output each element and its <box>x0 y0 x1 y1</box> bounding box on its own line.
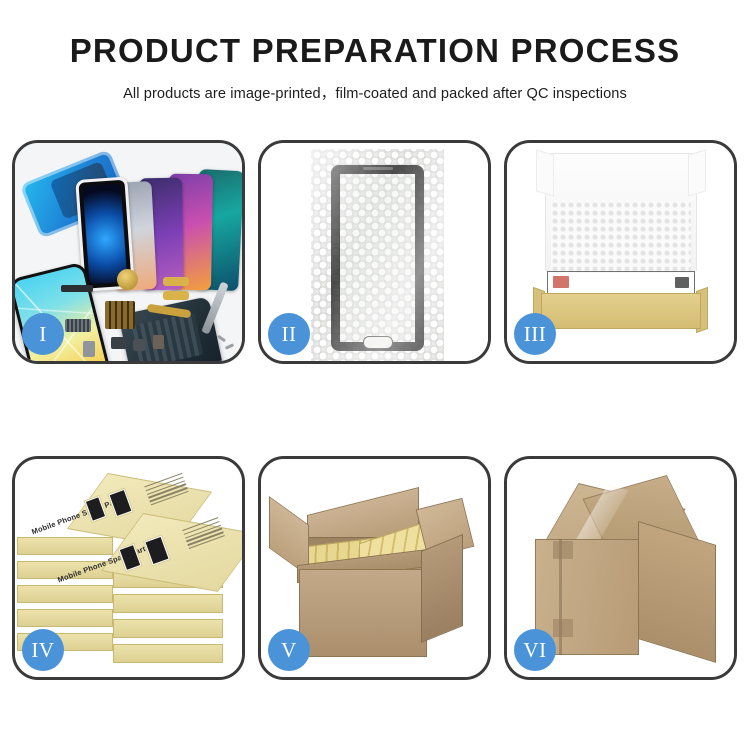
sealed-carton-right-face <box>638 521 716 663</box>
stacked-box-edge <box>113 644 223 663</box>
small-part-icon-4 <box>83 341 95 357</box>
process-step-panel-2[interactable]: II <box>258 140 491 364</box>
page-subtitle: All products are image-printed，film-coat… <box>0 82 750 103</box>
process-step-panel-3[interactable]: III <box>504 140 737 364</box>
process-step-panel-1[interactable]: I <box>12 140 245 364</box>
flex-cable-icon-1 <box>163 277 189 286</box>
ribbon-cable-icon <box>147 304 192 319</box>
stacked-box-edge <box>113 594 223 613</box>
flex-cable-icon-2 <box>163 291 189 300</box>
small-part-icon-2 <box>133 339 146 351</box>
stacked-box-edge <box>17 537 113 555</box>
step-badge-5: V <box>268 629 310 671</box>
process-step-panel-5[interactable]: V <box>258 456 491 680</box>
spare-parts-group <box>67 275 242 361</box>
bubble-wrap-sheet <box>311 149 444 361</box>
foam-insert-icon <box>551 201 691 273</box>
carton-front-face <box>299 569 427 657</box>
product-preparation-page: PRODUCT PREPARATION PROCESS All products… <box>0 0 750 750</box>
carton-tab-lower <box>553 619 573 637</box>
step-badge-6: VI <box>514 629 556 671</box>
small-part-icon-1 <box>111 337 127 349</box>
step-badge-3: III <box>514 313 556 355</box>
process-step-panel-4[interactable]: Mobile Phone Spare Parts Mobile Phone Sp… <box>12 456 245 680</box>
process-step-panel-6[interactable]: VI <box>504 456 737 680</box>
stacked-box-edge <box>17 585 113 603</box>
screw-icon-1 <box>217 335 226 343</box>
step-badge-2: II <box>268 313 310 355</box>
strip-part-icon <box>61 285 93 292</box>
chip-part-icon <box>105 301 135 329</box>
phone-lineup-group <box>75 155 242 290</box>
step-badge-4: IV <box>22 629 64 671</box>
box-front-panel <box>541 293 701 329</box>
coil-part-icon <box>117 269 138 290</box>
stacked-box-edge <box>17 609 113 627</box>
page-title: PRODUCT PREPARATION PROCESS <box>0 34 750 69</box>
page-header: PRODUCT PREPARATION PROCESS All products… <box>0 0 750 103</box>
connector-part-icon <box>65 319 91 332</box>
screw-icon-2 <box>225 343 234 350</box>
carton-side-face <box>421 534 463 643</box>
carton-tab-upper <box>553 541 573 559</box>
stacked-box-edge <box>113 619 223 638</box>
small-part-icon-3 <box>153 335 164 349</box>
step-badge-1: I <box>22 313 64 355</box>
process-step-grid: I II III <box>12 140 738 680</box>
phone-front-glass-icon <box>331 165 424 351</box>
